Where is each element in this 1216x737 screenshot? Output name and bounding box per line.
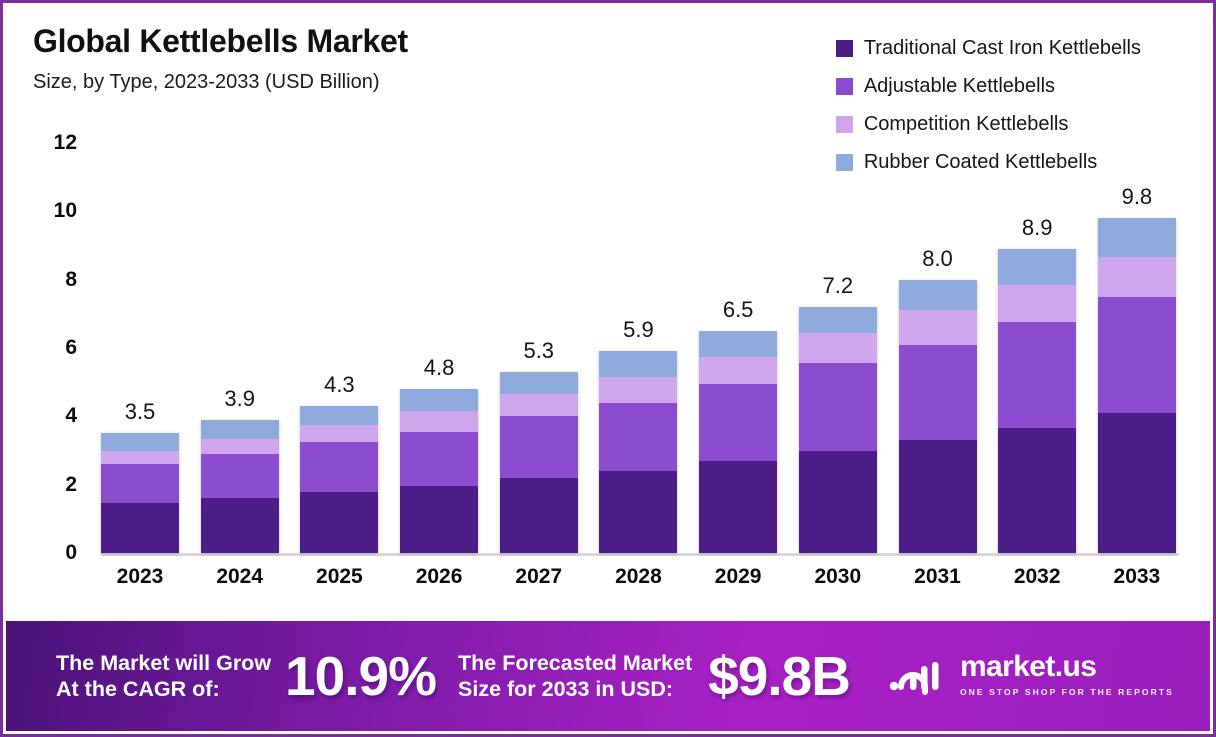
legend-item[interactable]: Competition Kettlebells bbox=[836, 105, 1141, 143]
bar-column[interactable]: 3.5 bbox=[101, 143, 179, 553]
cagr-caption-line1: The Market will Grow bbox=[56, 650, 271, 676]
bar-segment[interactable] bbox=[400, 389, 478, 411]
bar-segment[interactable] bbox=[899, 345, 977, 441]
bar-column[interactable]: 4.8 bbox=[400, 143, 478, 553]
bar-segment[interactable] bbox=[201, 454, 279, 498]
bar-segment[interactable] bbox=[899, 280, 977, 311]
bar-segment[interactable] bbox=[101, 451, 179, 465]
bar-segment[interactable] bbox=[101, 464, 179, 503]
cagr-caption-line2: At the CAGR of: bbox=[56, 676, 271, 702]
bar-segment[interactable] bbox=[699, 331, 777, 357]
stacked-bar[interactable] bbox=[400, 389, 478, 553]
stacked-bar[interactable] bbox=[300, 406, 378, 553]
legend-swatch-icon bbox=[836, 40, 853, 57]
chart-header: Global Kettlebells Market Size, by Type,… bbox=[33, 25, 408, 94]
bar-segment[interactable] bbox=[799, 451, 877, 554]
bar-segment[interactable] bbox=[599, 351, 677, 377]
bar-total-label: 3.9 bbox=[201, 386, 279, 412]
logo-tagline: ONE STOP SHOP FOR THE REPORTS bbox=[960, 687, 1174, 697]
legend-swatch-icon bbox=[836, 116, 853, 133]
bar-total-label: 6.5 bbox=[699, 297, 777, 323]
bar-segment[interactable] bbox=[300, 425, 378, 442]
legend-item[interactable]: Adjustable Kettlebells bbox=[836, 67, 1141, 105]
bar-segment[interactable] bbox=[998, 249, 1076, 285]
forecast-block: The Forecasted Market Size for 2033 in U… bbox=[458, 649, 850, 704]
bar-segment[interactable] bbox=[500, 394, 578, 416]
footer-banner: The Market will Grow At the CAGR of: 10.… bbox=[6, 621, 1210, 731]
bar-column[interactable]: 4.3 bbox=[300, 143, 378, 553]
bar-column[interactable]: 9.8 bbox=[1098, 143, 1176, 553]
page-subtitle: Size, by Type, 2023-2033 (USD Billion) bbox=[33, 71, 408, 94]
y-axis-tick-label: 4 bbox=[37, 404, 77, 428]
bar-total-label: 7.2 bbox=[799, 273, 877, 299]
bar-column[interactable]: 3.9 bbox=[201, 143, 279, 553]
bar-segment[interactable] bbox=[1098, 297, 1176, 413]
bar-segment[interactable] bbox=[899, 310, 977, 344]
market-us-logo[interactable]: market.us ONE STOP SHOP FOR THE REPORTS bbox=[888, 652, 1210, 700]
legend-item-label: Traditional Cast Iron Kettlebells bbox=[864, 37, 1141, 60]
infographic-root: Global Kettlebells Market Size, by Type,… bbox=[0, 0, 1216, 737]
forecast-caption-line1: The Forecasted Market bbox=[458, 650, 692, 676]
stacked-bar[interactable] bbox=[1098, 218, 1176, 553]
x-axis-label: 2028 bbox=[599, 565, 677, 605]
x-axis-label: 2026 bbox=[400, 565, 478, 605]
bar-segment[interactable] bbox=[699, 357, 777, 384]
bar-column[interactable]: 6.5 bbox=[699, 143, 777, 553]
bar-segment[interactable] bbox=[201, 420, 279, 439]
bar-total-label: 4.8 bbox=[400, 355, 478, 381]
bar-segment[interactable] bbox=[799, 333, 877, 364]
plot-area: 3.53.94.34.85.35.96.57.28.08.99.8 bbox=[101, 143, 1176, 553]
x-axis-label: 2033 bbox=[1098, 565, 1176, 605]
legend-item[interactable]: Traditional Cast Iron Kettlebells bbox=[836, 29, 1141, 67]
stacked-bar[interactable] bbox=[998, 249, 1076, 553]
bar-segment[interactable] bbox=[201, 498, 279, 553]
x-axis-line bbox=[101, 553, 1179, 556]
bar-segment[interactable] bbox=[500, 478, 578, 553]
y-axis-tick-label: 10 bbox=[37, 199, 77, 223]
forecast-value: $9.8B bbox=[708, 649, 850, 704]
bar-total-label: 5.9 bbox=[599, 317, 677, 343]
bar-column[interactable]: 8.9 bbox=[998, 143, 1076, 553]
logo-name: market.us bbox=[960, 650, 1096, 683]
stacked-bar[interactable] bbox=[899, 280, 977, 553]
bar-segment[interactable] bbox=[998, 322, 1076, 428]
x-axis-label: 2029 bbox=[699, 565, 777, 605]
stacked-bar[interactable] bbox=[799, 307, 877, 553]
bar-segment[interactable] bbox=[699, 461, 777, 553]
y-axis-tick-label: 2 bbox=[37, 473, 77, 497]
legend-item-label: Adjustable Kettlebells bbox=[864, 75, 1055, 98]
bar-column[interactable]: 7.2 bbox=[799, 143, 877, 553]
bar-segment[interactable] bbox=[699, 384, 777, 461]
bar-group: 3.53.94.34.85.35.96.57.28.08.99.8 bbox=[101, 143, 1176, 553]
x-axis-label: 2030 bbox=[799, 565, 877, 605]
bar-segment[interactable] bbox=[799, 307, 877, 333]
bar-total-label: 3.5 bbox=[101, 399, 179, 425]
x-axis-labels: 2023202420252026202720282029203020312032… bbox=[101, 565, 1176, 605]
bar-column[interactable]: 8.0 bbox=[899, 143, 977, 553]
bar-segment[interactable] bbox=[998, 285, 1076, 323]
x-axis-label: 2023 bbox=[101, 565, 179, 605]
bar-segment[interactable] bbox=[400, 486, 478, 553]
bar-segment[interactable] bbox=[300, 406, 378, 425]
cagr-block: The Market will Grow At the CAGR of: 10.… bbox=[56, 649, 436, 704]
cagr-value: 10.9% bbox=[285, 649, 436, 704]
legend-swatch-icon bbox=[836, 78, 853, 95]
x-axis-label: 2032 bbox=[998, 565, 1076, 605]
bar-segment[interactable] bbox=[300, 492, 378, 554]
bar-segment[interactable] bbox=[400, 411, 478, 432]
bar-segment[interactable] bbox=[599, 377, 677, 403]
y-axis-tick-label: 12 bbox=[37, 131, 77, 155]
x-axis-label: 2031 bbox=[899, 565, 977, 605]
stacked-bar[interactable] bbox=[599, 351, 677, 553]
x-axis-label: 2024 bbox=[201, 565, 279, 605]
bar-segment[interactable] bbox=[799, 363, 877, 450]
forecast-caption: The Forecasted Market Size for 2033 in U… bbox=[458, 650, 692, 702]
bar-total-label: 8.9 bbox=[998, 215, 1076, 241]
bar-segment[interactable] bbox=[400, 432, 478, 487]
bar-total-label: 4.3 bbox=[300, 372, 378, 398]
bar-segment[interactable] bbox=[500, 372, 578, 394]
market-us-mark-icon bbox=[888, 656, 950, 696]
bar-total-label: 9.8 bbox=[1098, 184, 1176, 210]
bar-segment[interactable] bbox=[899, 440, 977, 553]
bar-segment[interactable] bbox=[101, 503, 179, 553]
x-axis-label: 2027 bbox=[500, 565, 578, 605]
bar-segment[interactable] bbox=[1098, 413, 1176, 553]
bar-segment[interactable] bbox=[599, 403, 677, 471]
bar-segment[interactable] bbox=[998, 428, 1076, 553]
bar-segment[interactable] bbox=[101, 433, 179, 450]
stacked-bar[interactable] bbox=[101, 433, 179, 553]
page-title: Global Kettlebells Market bbox=[33, 25, 408, 59]
cagr-caption: The Market will Grow At the CAGR of: bbox=[56, 650, 271, 702]
bar-total-label: 5.3 bbox=[500, 338, 578, 364]
stacked-bar[interactable] bbox=[699, 331, 777, 553]
bar-segment[interactable] bbox=[500, 416, 578, 478]
stacked-bar[interactable] bbox=[201, 420, 279, 553]
stacked-bar[interactable] bbox=[500, 372, 578, 553]
bar-column[interactable]: 5.3 bbox=[500, 143, 578, 553]
bar-segment[interactable] bbox=[300, 442, 378, 492]
bar-total-label: 8.0 bbox=[899, 246, 977, 272]
forecast-caption-line2: Size for 2033 in USD: bbox=[458, 676, 692, 702]
y-axis-tick-label: 0 bbox=[37, 541, 77, 565]
bar-column[interactable]: 5.9 bbox=[599, 143, 677, 553]
bar-segment[interactable] bbox=[1098, 218, 1176, 257]
x-axis-label: 2025 bbox=[300, 565, 378, 605]
logo-text: market.us ONE STOP SHOP FOR THE REPORTS bbox=[960, 652, 1210, 700]
legend-item-label: Competition Kettlebells bbox=[864, 113, 1069, 136]
bar-segment[interactable] bbox=[1098, 257, 1176, 296]
bar-segment[interactable] bbox=[599, 471, 677, 553]
y-axis-tick-label: 6 bbox=[37, 336, 77, 360]
y-axis-tick-label: 8 bbox=[37, 268, 77, 292]
bar-segment[interactable] bbox=[201, 439, 279, 454]
